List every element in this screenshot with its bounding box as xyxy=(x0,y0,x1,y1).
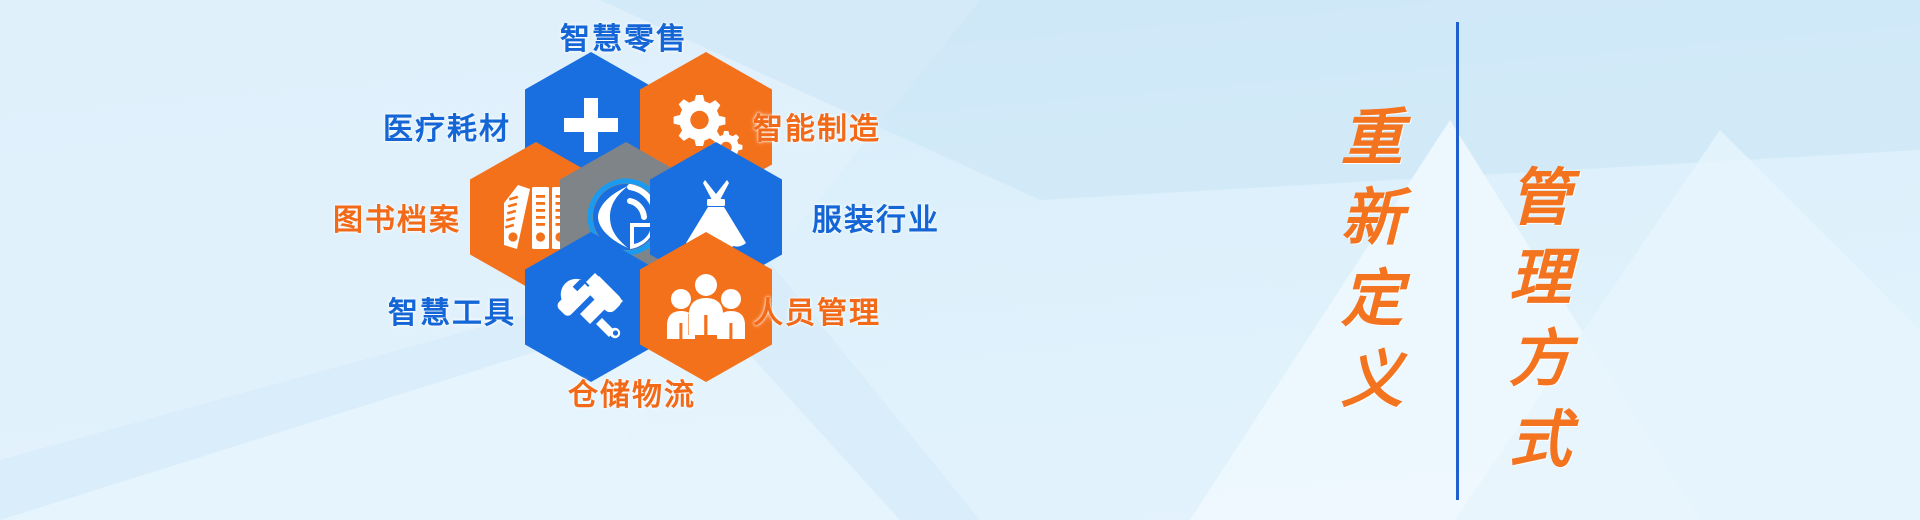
medical-cross-icon xyxy=(560,96,622,158)
calligraphy-char: 重 xyxy=(1341,99,1403,180)
label-archive: 图书档案 xyxy=(333,195,461,239)
calligraphy-char: 新 xyxy=(1341,179,1403,260)
label-tools: 智慧工具 xyxy=(388,288,516,332)
calligraphy-block: 重 新 定 义 管 理 方 式 xyxy=(1290,0,1620,520)
people-group-icon xyxy=(667,273,745,341)
calligraphy-char: 方 xyxy=(1509,320,1571,401)
label-personnel: 人员管理 xyxy=(753,288,881,332)
label-retail: 智慧零售 xyxy=(560,14,688,58)
calligraphy-char: 义 xyxy=(1341,341,1403,422)
calligraphy-char: 定 xyxy=(1341,260,1403,341)
calligraphy-column-left: 重 新 定 义 xyxy=(1312,0,1432,520)
calligraphy-char: 管 xyxy=(1509,159,1571,240)
label-warehouse: 仓储物流 xyxy=(568,370,696,414)
label-manufacturing: 智能制造 xyxy=(753,104,881,148)
calligraphy-column-right: 管 理 方 式 xyxy=(1480,0,1600,520)
calligraphy-char: 理 xyxy=(1509,239,1571,320)
background-decoration xyxy=(0,0,1920,520)
industry-hexagon-cluster xyxy=(470,52,780,382)
label-medical: 医疗耗材 xyxy=(383,104,511,148)
calligraphy-char: 式 xyxy=(1509,401,1571,482)
label-apparel: 服装行业 xyxy=(812,195,940,239)
banner-stage: 智慧零售 医疗耗材 智能制造 图书档案 服装行业 智慧工具 人员管理 仓储物流 … xyxy=(0,0,1920,520)
wrench-screwdriver-icon xyxy=(554,270,628,344)
calligraphy-divider xyxy=(1456,22,1459,500)
